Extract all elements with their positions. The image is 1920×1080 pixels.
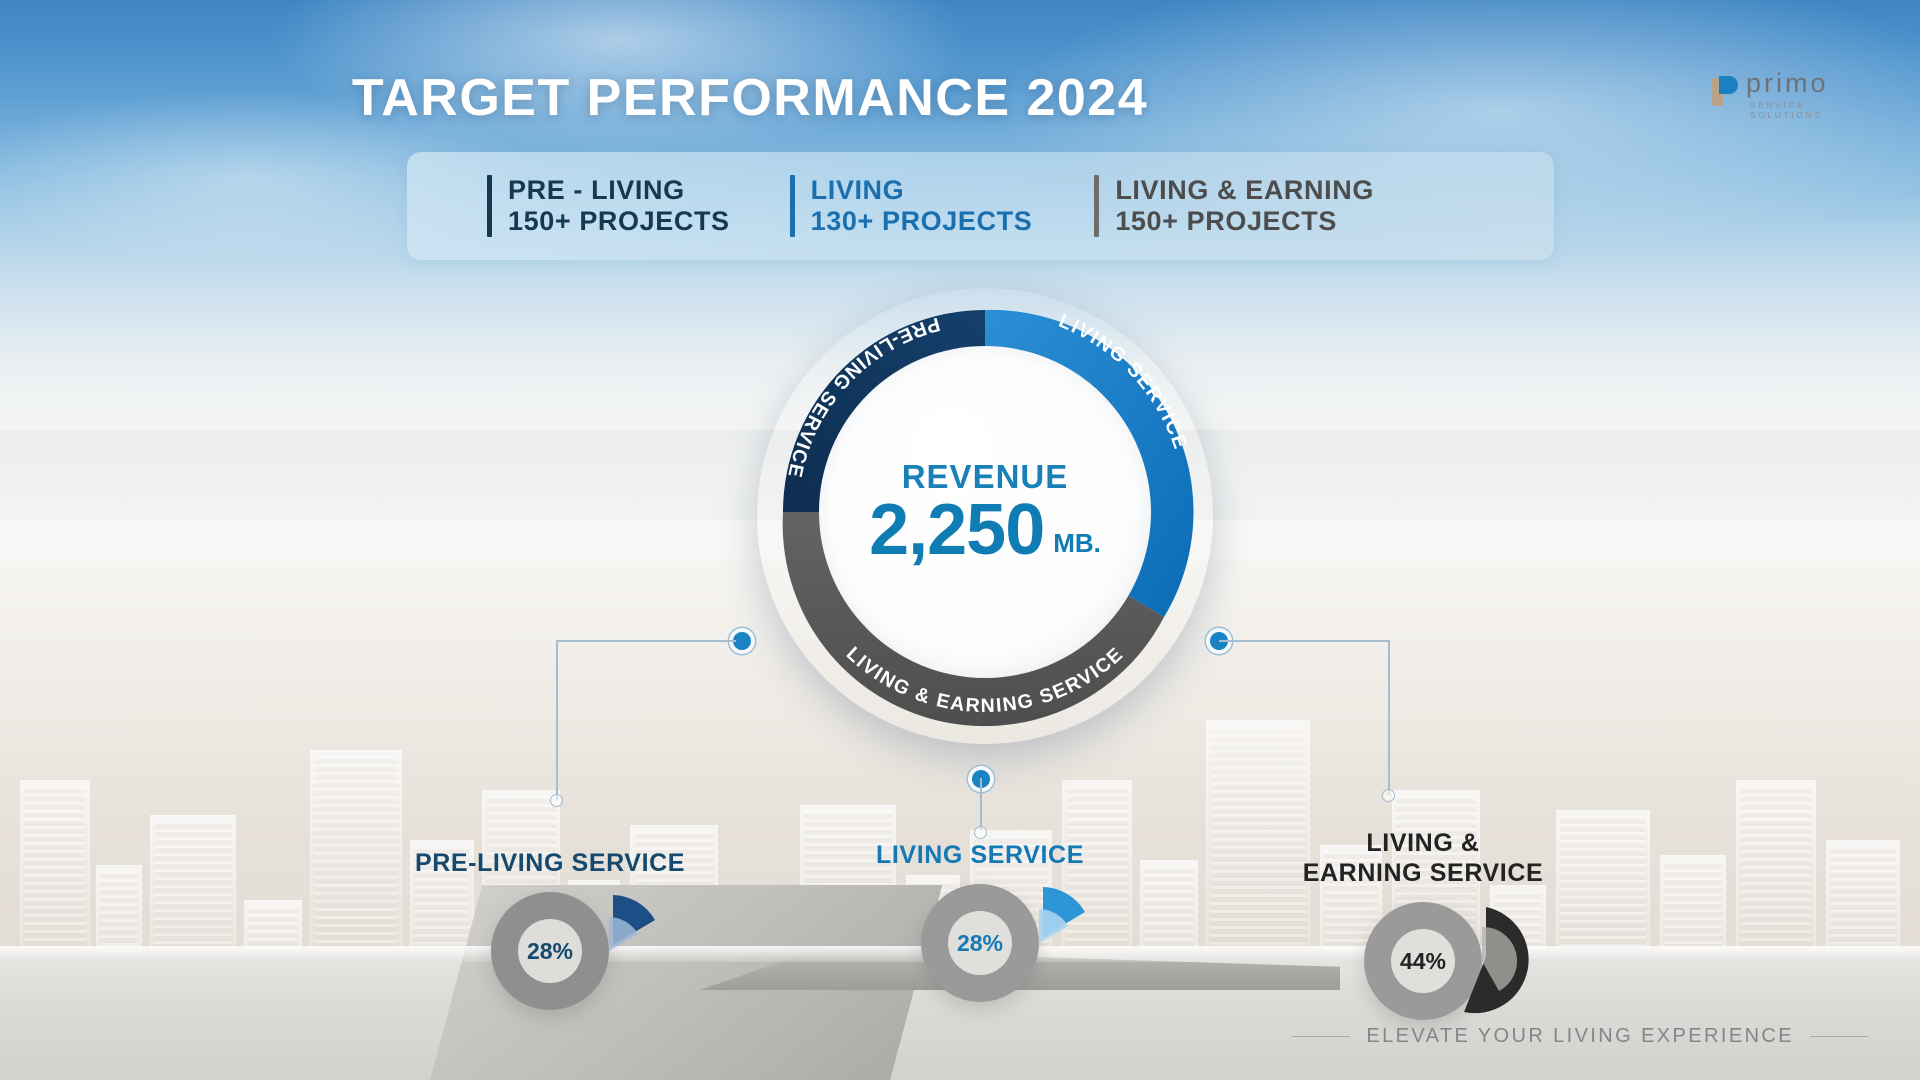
- connector-line-h: [556, 640, 736, 642]
- logo-tagline: SERVICE SOLUTIONS: [1750, 100, 1870, 120]
- stat-accent-bar: [1094, 175, 1099, 237]
- mini-donut-living[interactable]: 28%: [921, 884, 1039, 1002]
- stat-projects: 150+ PROJECTS: [508, 206, 730, 237]
- breakdown-item-living[interactable]: LIVING SERVICE 28%: [800, 840, 1160, 1002]
- connector-line-h: [1219, 640, 1389, 642]
- connector-dot-open: [1382, 789, 1395, 802]
- footer-tagline: ELEVATE YOUR LIVING EXPERIENCE: [1366, 1025, 1794, 1048]
- page-title: TARGET PERFORMANCE 2024: [0, 68, 1500, 128]
- connector-line-v: [556, 640, 558, 800]
- breakdown-percent: 44%: [1400, 948, 1446, 975]
- breakdown-label: LIVING & EARNING SERVICE: [1258, 828, 1588, 888]
- mini-donut-hole: 44%: [1391, 929, 1455, 993]
- donut-center-content: REVENUE 2,250 MB.: [819, 346, 1151, 678]
- stat-name: PRE - LIVING: [508, 175, 730, 206]
- stat-item-living[interactable]: LIVING 130+ PROJECTS: [764, 173, 1033, 239]
- footer-tagline-group: ELEVATE YOUR LIVING EXPERIENCE: [1292, 1025, 1868, 1048]
- brand-logo: primo SERVICE SOLUTIONS: [1710, 68, 1870, 124]
- stat-name: LIVING: [811, 175, 1033, 206]
- footer-dash-right: [1810, 1036, 1868, 1038]
- revenue-donut-chart[interactable]: PRE-LIVING SERVICE LIVING SERVICE LIVING…: [745, 272, 1225, 752]
- connector-line-v: [1388, 640, 1390, 795]
- stats-bar: PRE - LIVING 150+ PROJECTS LIVING 130+ P…: [407, 152, 1554, 260]
- breakdown-percent: 28%: [957, 930, 1003, 957]
- stat-projects: 150+ PROJECTS: [1115, 206, 1374, 237]
- stat-projects: 130+ PROJECTS: [811, 206, 1033, 237]
- connector-dot-open: [550, 794, 563, 807]
- logo-wordmark: primo: [1746, 68, 1829, 99]
- mini-donut-pre-living[interactable]: 28%: [491, 892, 609, 1010]
- breakdown-item-living-earning[interactable]: LIVING & EARNING SERVICE 44%: [1258, 828, 1588, 1020]
- revenue-value: 2,250: [869, 494, 1044, 566]
- stat-item-pre-living[interactable]: PRE - LIVING 150+ PROJECTS: [461, 173, 730, 239]
- mini-donut-hole: 28%: [518, 919, 582, 983]
- stat-item-living-earning[interactable]: LIVING & EARNING 150+ PROJECTS: [1068, 173, 1374, 239]
- primo-logomark-icon: [1710, 72, 1744, 108]
- breakdown-percent: 28%: [527, 938, 573, 965]
- mini-donut-hole: 28%: [948, 911, 1012, 975]
- stat-name: LIVING & EARNING: [1115, 175, 1374, 206]
- stat-accent-bar: [487, 175, 492, 237]
- stat-accent-bar: [790, 175, 795, 237]
- breakdown-item-pre-living[interactable]: PRE-LIVING SERVICE 28%: [355, 848, 745, 1010]
- breakdown-label: LIVING SERVICE: [800, 840, 1160, 870]
- revenue-unit: MB.: [1053, 528, 1101, 559]
- infographic-stage: TARGET PERFORMANCE 2024 primo SERVICE SO…: [0, 0, 1920, 1080]
- connector-dot-open: [974, 826, 987, 839]
- connector-line-v: [980, 778, 982, 830]
- mini-donut-living-earning[interactable]: 44%: [1364, 902, 1482, 1020]
- breakdown-label: PRE-LIVING SERVICE: [355, 848, 745, 878]
- footer-dash-left: [1292, 1036, 1350, 1038]
